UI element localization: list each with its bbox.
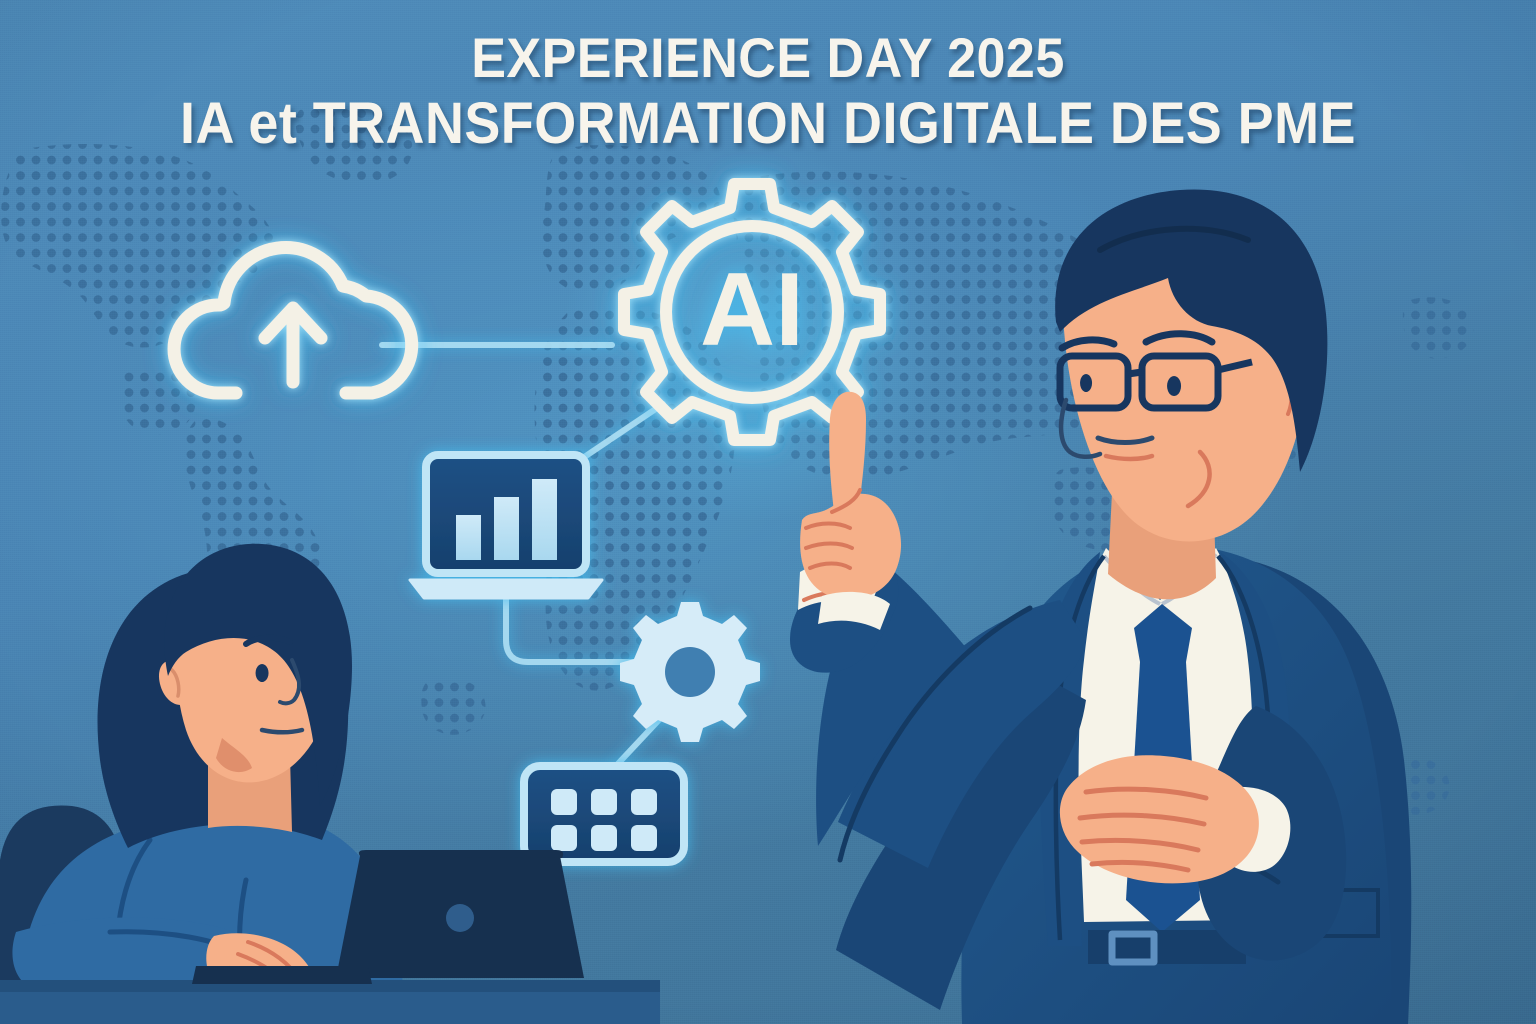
laptop-keyboard-base [192,966,372,984]
desk-and-laptop [0,0,1536,1024]
laptop-logo [446,904,474,932]
poster-canvas: AI [0,0,1536,1024]
